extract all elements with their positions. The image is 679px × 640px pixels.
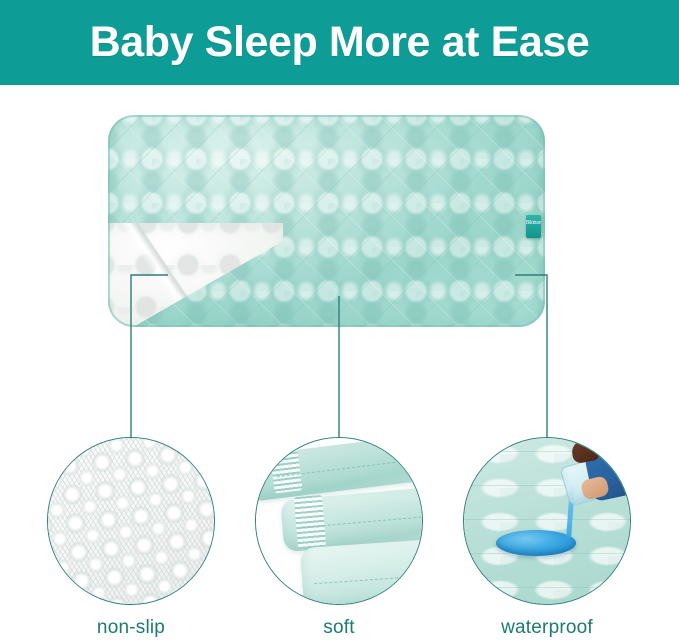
feature-label-waterproof: waterproof	[463, 616, 631, 640]
soft-fabric-edge-1	[269, 446, 302, 493]
mattress-pad-image: Biloban	[108, 115, 545, 327]
soft-fabric-texture	[256, 438, 422, 604]
page-title: Baby Sleep More at Ease	[90, 21, 590, 64]
non-slip-dots-secondary	[47, 437, 215, 605]
feature-soft: soft	[255, 437, 423, 640]
feature-image-soft	[255, 437, 423, 605]
feature-callouts: non-slip soft	[0, 437, 679, 640]
non-slip-texture	[47, 437, 215, 605]
feature-non-slip: non-slip	[47, 437, 215, 640]
feature-waterproof: waterproof	[463, 437, 631, 640]
hero-product-section: Biloban	[0, 85, 679, 415]
header-banner: Baby Sleep More at Ease	[0, 0, 679, 85]
feature-label-non-slip: non-slip	[47, 616, 215, 640]
feature-label-soft: soft	[255, 616, 423, 640]
soft-fabric-fold-3	[300, 536, 423, 605]
feature-image-non-slip	[47, 437, 215, 605]
mattress-pad-border	[108, 115, 545, 327]
water-puddle	[496, 530, 576, 556]
soft-fabric-edge-2	[294, 495, 326, 549]
feature-image-waterproof	[463, 437, 631, 605]
